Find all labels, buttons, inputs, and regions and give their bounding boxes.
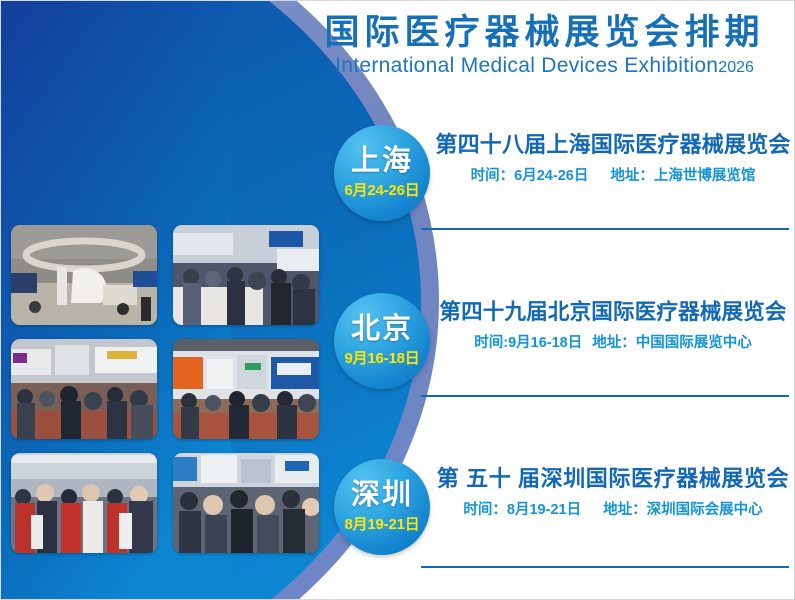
divider-line-2: [421, 395, 789, 397]
photo-exhibition-booth-imaging: [11, 225, 157, 325]
exhibition-schedule-poster: 国际医疗器械展览会排期 International Medical Device…: [0, 0, 795, 600]
photo-exhibition-hall-visitors: [11, 339, 157, 439]
event-venue: 地址：上海世博展览馆: [610, 168, 755, 185]
event-time-value: 8月19-21日: [507, 502, 581, 518]
event-meta: 时间:9月16-18日 地址：中国国际展览中心: [430, 335, 795, 352]
event-time-value: 9月16-18日: [508, 335, 582, 351]
page-title-year: 2026: [718, 59, 754, 76]
event-venue: 地址：深圳国际会展中心: [603, 502, 763, 519]
event-venue-label: 地址：: [592, 335, 636, 351]
event-venue: 地址：中国国际展览中心: [592, 335, 752, 352]
event-time-value: 6月24-26日: [514, 168, 588, 184]
city-date-badge: 8月19-21日: [344, 517, 419, 532]
event-venue-label: 地址：: [610, 168, 654, 184]
event-text-shenzhen: 第 五十 届深圳国际医疗器械展览会 时间：8月19-21日 地址：深圳国际会展中…: [430, 465, 795, 519]
poster-header: 国际医疗器械展览会排期 International Medical Device…: [301, 13, 788, 77]
photo-gallery: [11, 225, 323, 563]
event-row-shanghai[interactable]: 上海 6月24-26日 第四十八届上海国际医疗器械展览会 时间：6月24-26日…: [334, 125, 795, 221]
city-name: 深圳: [351, 481, 413, 510]
photo-visitors-masked: [173, 453, 319, 553]
event-time: 时间：8月19-21日: [463, 502, 581, 519]
photo-registration-queue: [11, 453, 157, 553]
event-row-beijing[interactable]: 北京 9月16-18日 第四十九届北京国际医疗器械展览会 时间:9月16-18日…: [334, 293, 795, 389]
event-venue-value: 上海世博展览馆: [654, 168, 756, 184]
divider-line-3: [421, 566, 789, 568]
city-badge-beijing[interactable]: 北京 9月16-18日: [334, 293, 430, 389]
city-name: 北京: [351, 315, 413, 344]
event-title: 第四十九届北京国际医疗器械展览会: [430, 299, 795, 326]
page-title-en-wrap: International Medical Devices Exhibition…: [301, 54, 788, 77]
event-title: 第四十八届上海国际医疗器械展览会: [430, 131, 795, 159]
event-text-shanghai: 第四十八届上海国际医疗器械展览会 时间：6月24-26日 地址：上海世博展览馆: [430, 131, 795, 185]
event-time-label: 时间：: [471, 168, 515, 184]
event-meta: 时间：6月24-26日 地址：上海世博展览馆: [430, 168, 795, 185]
city-date-badge: 9月16-18日: [344, 351, 419, 366]
event-time-label: 时间:: [474, 335, 508, 351]
event-time: 时间：6月24-26日: [471, 168, 589, 185]
event-meta: 时间：8月19-21日 地址：深圳国际会展中心: [430, 502, 795, 519]
event-row-shenzhen[interactable]: 深圳 8月19-21日 第 五十 届深圳国际医疗器械展览会 时间：8月19-21…: [334, 459, 795, 555]
event-venue-value: 深圳国际会展中心: [647, 502, 763, 518]
divider-line-1: [421, 228, 789, 230]
event-venue-label: 地址：: [603, 502, 647, 518]
page-title-en: International Medical Devices Exhibition: [335, 54, 718, 77]
city-date-badge: 6月24-26日: [344, 183, 419, 198]
city-name: 上海: [351, 147, 413, 176]
event-time-label: 时间：: [463, 502, 507, 518]
event-text-beijing: 第四十九届北京国际医疗器械展览会 时间:9月16-18日 地址：中国国际展览中心: [430, 299, 795, 352]
event-venue-value: 中国国际展览中心: [636, 335, 752, 351]
page-title-cn: 国际医疗器械展览会排期: [301, 13, 788, 52]
city-badge-shanghai[interactable]: 上海 6月24-26日: [334, 125, 430, 221]
photo-exhibition-crowd-aisle: [173, 225, 319, 325]
event-time: 时间:9月16-18日: [474, 335, 582, 352]
photo-exhibition-booths-wide: [173, 339, 319, 439]
event-title: 第 五十 届深圳国际医疗器械展览会: [430, 465, 795, 493]
city-badge-shenzhen[interactable]: 深圳 8月19-21日: [334, 459, 430, 555]
